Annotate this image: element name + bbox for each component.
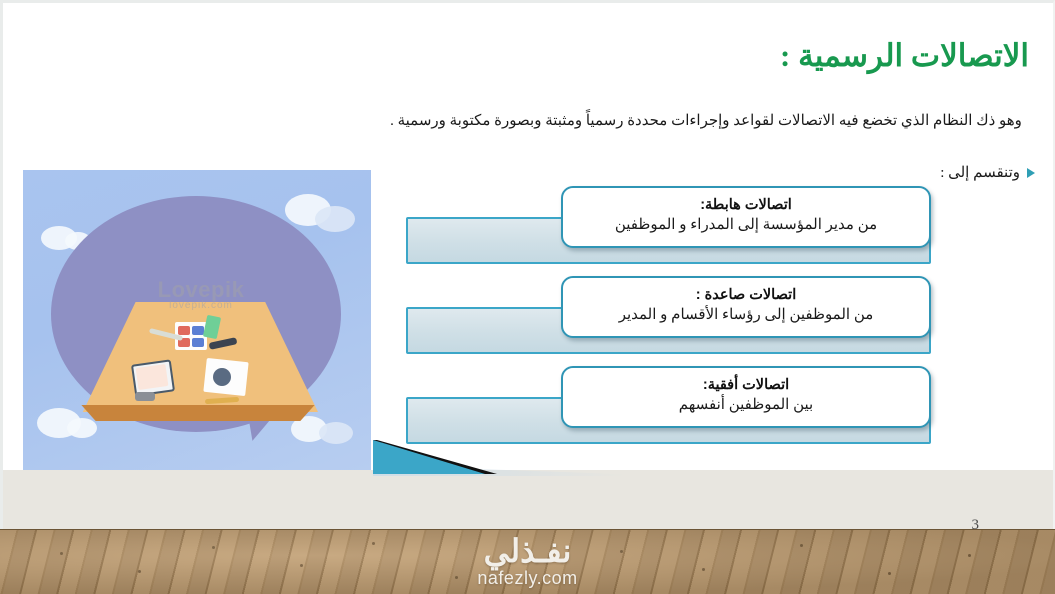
tablet-screen <box>136 364 169 390</box>
callout-card[interactable]: اتصالات أفقية: بين الموظفين أنفسهم <box>561 366 931 428</box>
pie-chart-graphic <box>213 368 231 386</box>
nafezly-brand-arabic: نفـذلي <box>484 535 572 567</box>
slide-title: الاتصالات الرسمية : <box>429 37 1029 74</box>
eyeglasses <box>135 392 155 401</box>
callout-heading: اتصالات هابطة: <box>700 196 792 214</box>
bullet-label: وتنقسم إلى : <box>940 163 1020 182</box>
callout-detail: من الموظفين إلى رؤساء الأقسام و المدير <box>619 306 874 326</box>
callout-box-downward[interactable]: اتصالات هابطة: من مدير المؤسسة إلى المدر… <box>406 186 931 264</box>
cloud-icon <box>67 418 97 438</box>
bullet-row: وتنقسم إلى : <box>940 163 1035 182</box>
cloud-icon <box>319 422 353 444</box>
callout-box-upward[interactable]: اتصالات صاعدة : من الموظفين إلى رؤساء ال… <box>406 276 931 354</box>
slide-bottom-wash <box>3 470 1055 529</box>
callout-box-horizontal[interactable]: اتصالات أفقية: بين الموظفين أنفسهم <box>406 366 931 444</box>
callout-heading: اتصالات صاعدة : <box>696 286 796 304</box>
callout-card[interactable]: اتصالات صاعدة : من الموظفين إلى رؤساء ال… <box>561 276 931 338</box>
table-paper-chart <box>192 338 204 347</box>
presentation-slide: الاتصالات الرسمية : وهو ذك النظام الذي ت… <box>0 0 1055 529</box>
table-paper-chart <box>192 326 204 335</box>
triangle-bullet-icon <box>1027 168 1035 178</box>
meeting-illustration: Lovepik lovepik.com <box>23 170 371 470</box>
slide-body-paragraph: وهو ذك النظام الذي تخضع فيه الاتصالات لق… <box>381 111 1031 132</box>
nafezly-brand-url: nafezly.com <box>477 568 577 590</box>
callout-detail: بين الموظفين أنفسهم <box>679 396 813 416</box>
nafezly-watermark: نفـذلي nafezly.com <box>0 530 1055 594</box>
meeting-table-edge <box>79 405 317 421</box>
callout-card[interactable]: اتصالات هابطة: من مدير المؤسسة إلى المدر… <box>561 186 931 248</box>
decorative-teal-wedge <box>373 440 573 474</box>
callout-heading: اتصالات أفقية: <box>703 376 789 394</box>
callout-detail: من مدير المؤسسة إلى المدراء و الموظفين <box>615 216 877 236</box>
slide-number: 3 <box>972 517 980 529</box>
wooden-background-footer: نفـذلي nafezly.com <box>0 529 1055 594</box>
table-paper-chart <box>178 326 190 335</box>
screenshot-root: الاتصالات الرسمية : وهو ذك النظام الذي ت… <box>0 0 1055 594</box>
cloud-icon <box>315 206 355 232</box>
